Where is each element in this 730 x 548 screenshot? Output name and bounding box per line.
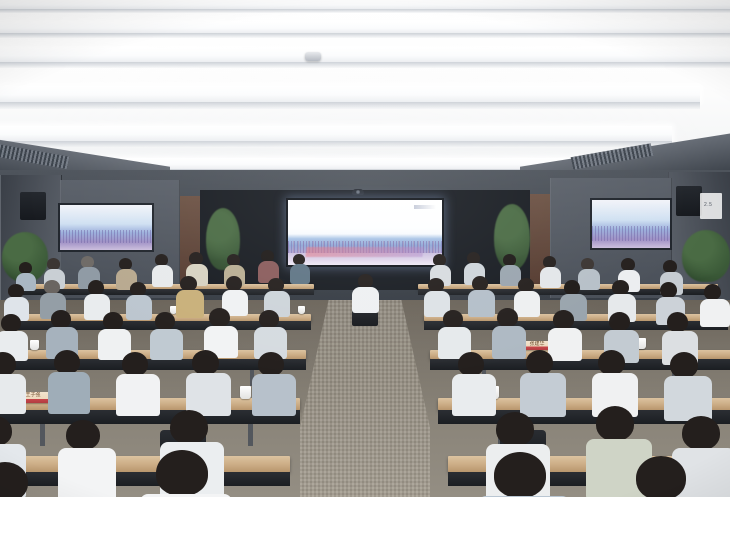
audience-area: 张建华 — [0, 240, 730, 497]
screen-watermark-icon — [414, 205, 436, 209]
conference-room-photograph: 2.5 — [0, 0, 730, 497]
smoke-detector-icon — [305, 52, 321, 61]
letterbox-area — [0, 497, 730, 548]
conference-camera-icon — [352, 189, 364, 195]
table-apron — [0, 472, 290, 486]
tea-cup — [298, 306, 305, 314]
wall-speaker-right — [676, 186, 702, 216]
table-leg — [40, 424, 45, 446]
wall-sign: 2.5 — [700, 193, 722, 219]
table-row — [0, 456, 290, 472]
tea-cup — [30, 340, 39, 350]
tea-cup — [240, 386, 251, 399]
table-leg — [248, 424, 253, 446]
wall-sign-label: 2.5 — [704, 202, 712, 208]
wall-speaker-left — [20, 192, 46, 220]
